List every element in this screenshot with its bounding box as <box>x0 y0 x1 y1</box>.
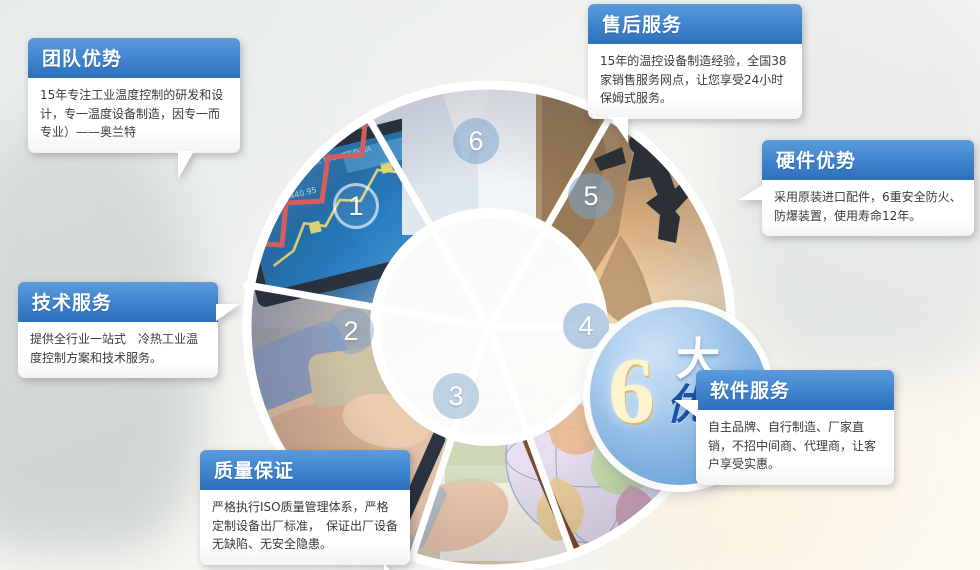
callout-team-body: 15年专注工业温度控制的研发和设计，专一温度设备制造，因专一而专业）——奥兰特 <box>28 78 240 153</box>
segment-number-6-label: 6 <box>468 128 483 155</box>
callout-after-sales-tail <box>610 117 628 143</box>
callout-technical-tail <box>216 304 240 321</box>
segment-number-1[interactable]: 1 <box>333 183 379 229</box>
callout-hardware-body: 采用原装进口配件，6重安全防火、防爆装置，使用寿命12年。 <box>762 180 974 236</box>
segment-number-4[interactable]: 4 <box>563 303 609 349</box>
callout-hardware-advantage[interactable]: 硬件优势 采用原装进口配件，6重安全防火、防爆装置，使用寿命12年。 <box>762 140 974 236</box>
callout-technical-service[interactable]: 技术服务 提供全行业一站式 冷热工业温度控制方案和技术服务。 <box>18 282 218 378</box>
callout-quality-assurance[interactable]: 质量保证 严格执行ISO质量管理体系，严格定制设备出厂标准， 保证出厂设备无缺陷… <box>200 450 410 565</box>
callout-team-tail <box>178 151 194 179</box>
callout-after-sales[interactable]: 售后服务 15年的温控设备制造经验，全国38家销售服务网点，让您享受24小时保姆… <box>588 4 802 119</box>
callout-after-sales-title: 售后服务 <box>588 4 802 44</box>
callout-technical-title: 技术服务 <box>18 282 218 322</box>
segment-number-3-label: 3 <box>448 383 463 410</box>
segment-number-5-label: 5 <box>583 183 598 210</box>
callout-software-service[interactable]: 软件服务 自主品牌、自行制造、厂家直销，不招中间商、代理商，让客户享受实惠。 <box>696 370 894 485</box>
callout-software-title: 软件服务 <box>696 370 894 410</box>
callout-quality-tail <box>384 563 404 570</box>
segment-number-1-label: 1 <box>348 193 363 220</box>
callout-software-body: 自主品牌、自行制造、厂家直销，不招中间商、代理商，让客户享受实惠。 <box>696 410 894 485</box>
callout-quality-title: 质量保证 <box>200 450 410 490</box>
segment-number-4-label: 4 <box>578 313 593 340</box>
segment-number-6[interactable]: 6 <box>453 118 499 164</box>
segment-number-2-label: 2 <box>343 318 358 345</box>
callout-after-sales-body: 15年的温控设备制造经验，全国38家销售服务网点，让您享受24小时保姆式服务。 <box>588 44 802 119</box>
segment-number-5[interactable]: 5 <box>568 173 614 219</box>
callout-hardware-title: 硬件优势 <box>762 140 974 180</box>
callout-software-tail <box>674 400 698 418</box>
callout-quality-body: 严格执行ISO质量管理体系，严格定制设备出厂标准， 保证出厂设备无缺陷、无安全隐… <box>200 490 410 565</box>
callout-technical-body: 提供全行业一站式 冷热工业温度控制方案和技术服务。 <box>18 322 218 378</box>
callout-team-advantage[interactable]: 团队优势 15年专注工业温度控制的研发和设计，专一温度设备制造，因专一而专业）—… <box>28 38 240 153</box>
callout-team-title: 团队优势 <box>28 38 240 78</box>
center-number-six: 6 <box>608 344 655 438</box>
segment-number-3[interactable]: 3 <box>433 373 479 419</box>
callout-hardware-tail <box>738 184 764 200</box>
segment-number-2[interactable]: 2 <box>328 308 374 354</box>
